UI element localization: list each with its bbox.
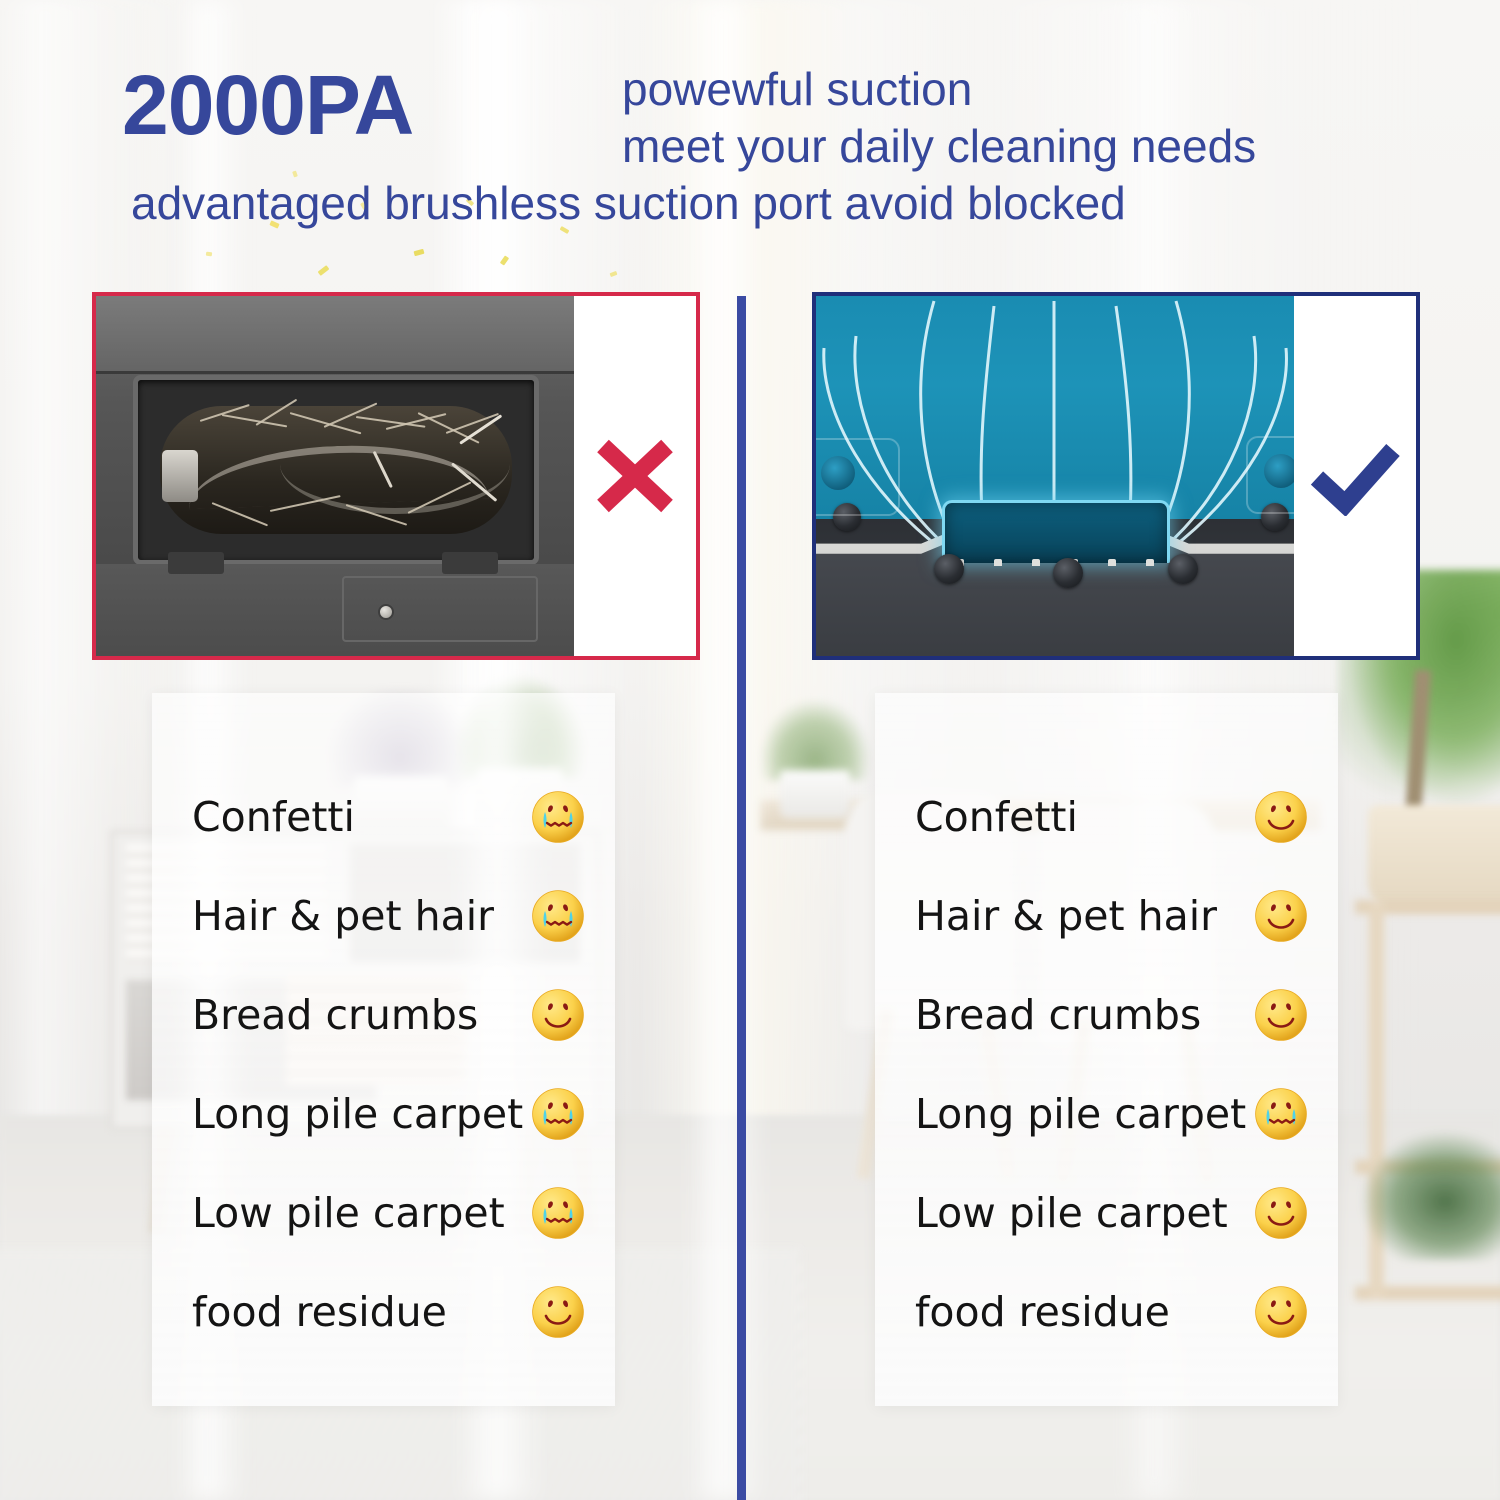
- result-row-label: Hair & pet hair: [192, 892, 494, 940]
- result-row-label: Hair & pet hair: [915, 892, 1217, 940]
- reject-mark-area: [574, 296, 696, 656]
- result-row: Confetti: [875, 767, 1338, 866]
- suction-tagline: powewful suction meet your daily cleanin…: [622, 61, 1256, 175]
- smiling-face-icon: [1254, 1186, 1308, 1240]
- check-mark-icon: [1309, 436, 1401, 516]
- center-divider: [737, 296, 746, 1500]
- headline-subtitle: advantaged brushless suction port avoid …: [131, 178, 1126, 229]
- headline-block: 2000PA powewful suction meet your daily …: [0, 0, 1500, 250]
- smiling-face-icon: [1254, 790, 1308, 844]
- result-row-label: Confetti: [192, 793, 355, 841]
- result-row: Long pile carpet: [875, 1064, 1338, 1163]
- smiling-face-icon: [531, 988, 585, 1042]
- brushless-suction-port-illustration: [816, 296, 1294, 656]
- results-panel-bristle-brush: Confetti Hair & pet hair Bread crumbs: [152, 693, 615, 1406]
- result-row: Low pile carpet: [875, 1163, 1338, 1262]
- result-row: Long pile carpet: [152, 1064, 615, 1163]
- crying-face-icon: [531, 1186, 585, 1240]
- result-row-label: food residue: [192, 1288, 447, 1336]
- result-row: food residue: [152, 1262, 615, 1361]
- suction-spec-value: 2000PA: [122, 63, 413, 147]
- tagline-line-2: meet your daily cleaning needs: [622, 118, 1256, 175]
- smiling-face-icon: [1254, 889, 1308, 943]
- comparison-card-brushless: [812, 292, 1420, 660]
- result-row: Low pile carpet: [152, 1163, 615, 1262]
- tagline-line-1: powewful suction: [622, 61, 1256, 118]
- result-row-label: food residue: [915, 1288, 1170, 1336]
- results-panel-brushless: Confetti Hair & pet hair Bread crumbs Lo…: [875, 693, 1338, 1406]
- result-row: Bread crumbs: [875, 965, 1338, 1064]
- result-row: Hair & pet hair: [875, 866, 1338, 965]
- cross-mark-icon: [593, 434, 677, 518]
- result-row: food residue: [875, 1262, 1338, 1361]
- result-row-label: Long pile carpet: [915, 1090, 1246, 1138]
- result-row-label: Bread crumbs: [192, 991, 478, 1039]
- crying-face-icon: [531, 790, 585, 844]
- result-row: Confetti: [152, 767, 615, 866]
- result-row-label: Low pile carpet: [915, 1189, 1228, 1237]
- result-row: Bread crumbs: [152, 965, 615, 1064]
- bristle-brush-roller-photo: [96, 296, 574, 656]
- result-row-label: Confetti: [915, 793, 1078, 841]
- smiling-face-icon: [531, 1285, 585, 1339]
- result-row-label: Low pile carpet: [192, 1189, 505, 1237]
- crying-face-icon: [531, 1087, 585, 1141]
- smiling-face-icon: [1254, 988, 1308, 1042]
- result-row-label: Long pile carpet: [192, 1090, 523, 1138]
- smiling-face-icon: [1254, 1285, 1308, 1339]
- result-row: Hair & pet hair: [152, 866, 615, 965]
- comparison-card-bristle-brush: [92, 292, 700, 660]
- result-row-label: Bread crumbs: [915, 991, 1201, 1039]
- approve-mark-area: [1294, 296, 1416, 656]
- product-feature-graphic: 2000PA powewful suction meet your daily …: [0, 0, 1500, 1500]
- crying-face-icon: [1254, 1087, 1308, 1141]
- crying-face-icon: [531, 889, 585, 943]
